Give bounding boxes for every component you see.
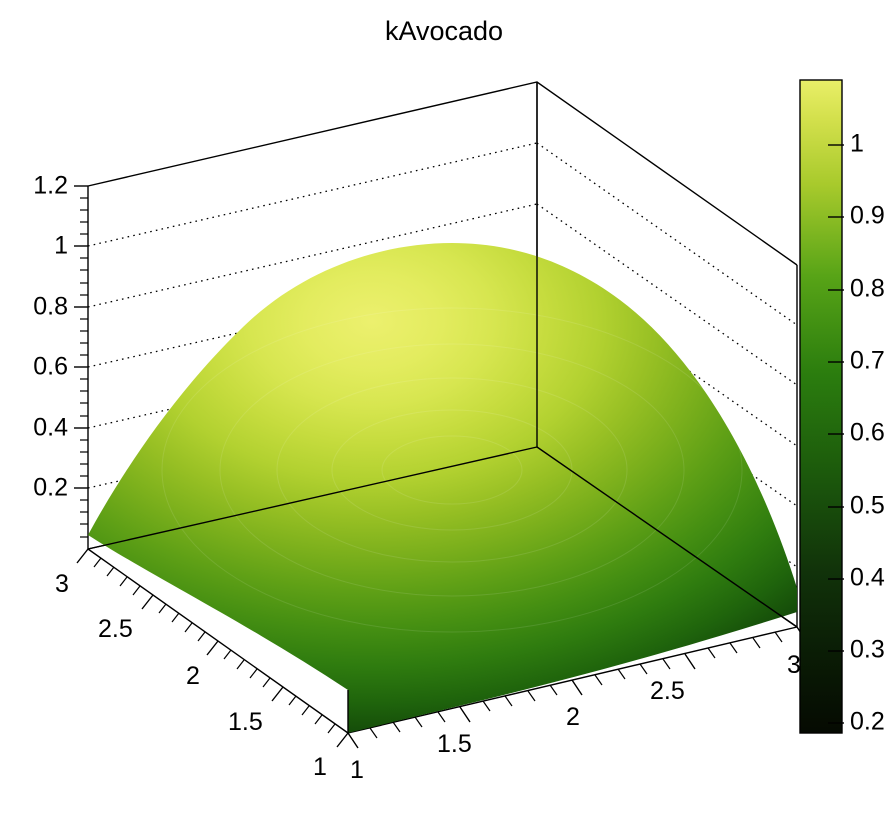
palette-tick-label: 0.3 [850,636,885,664]
x-axis-tick-label: 2.5 [650,677,685,705]
surface-plot: kAvocado [0,0,888,816]
z-axis-tick-label: 1 [54,232,68,260]
color-palette-bar[interactable]: 1 0.9 0.8 0.7 0.6 0.5 0.4 0.3 0.2 [800,80,885,736]
x-axis-tick-label: 1 [350,756,364,784]
y-axis-tick-label: 2.5 [98,615,133,643]
palette-tick-label: 1 [850,130,864,158]
z-axis-tick-label: 0.4 [33,414,68,442]
z-axis-tick-label: 1.2 [33,172,68,200]
palette-tick-label: 0.5 [850,492,885,520]
x-axis-tick-label: 1.5 [437,730,472,758]
y-axis-tick-label: 1.5 [228,708,263,736]
y-axis-tick-label: 2 [186,662,200,690]
root-canvas: kAvocado [0,0,888,816]
palette-tick-label: 0.9 [850,202,885,230]
z-axis-tick-label: 0.2 [33,474,68,502]
z-axis: 1.2 1 0.8 0.6 0.4 0.2 [33,172,88,537]
z-axis-tick-label: 0.8 [33,293,68,321]
page-title: kAvocado [385,16,503,46]
x-axis-tick-label: 2 [566,703,580,731]
palette-tick-label: 0.7 [850,347,885,375]
z-axis-tick-label: 0.6 [33,353,68,381]
palette-tick-label: 0.8 [850,275,885,303]
y-axis-tick-label: 3 [55,570,69,598]
palette-tick-label: 0.6 [850,419,885,447]
y-axis-tick-label: 1 [313,753,327,781]
palette-tick-label: 0.4 [850,564,885,592]
palette-tick-label: 0.2 [850,708,885,736]
x-axis-tick-label: 3 [787,651,801,679]
surface-mesh [88,243,797,733]
